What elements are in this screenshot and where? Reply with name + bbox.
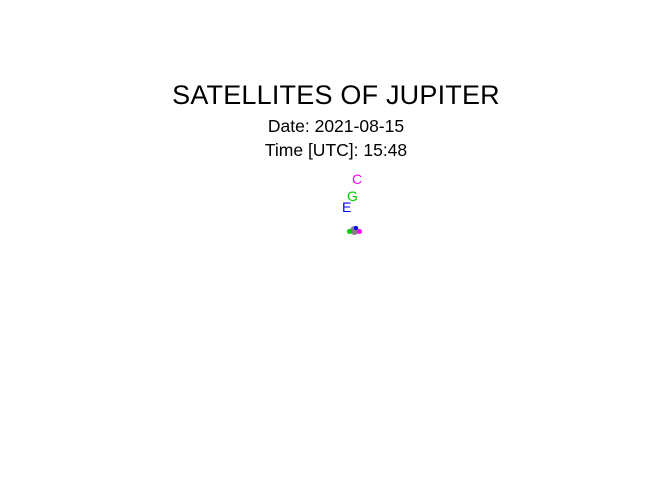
header-block: SATELLITES OF JUPITER Date: 2021-08-15 T… [0,82,672,159]
sky-canvas: SATELLITES OF JUPITER Date: 2021-08-15 T… [0,0,672,480]
moon-marker-ganymede [347,229,352,234]
observation-time: Time [UTC]: 15:48 [0,142,672,160]
moon-label-callisto: C [352,172,362,186]
moon-label-europa: E [342,200,351,214]
page-title: SATELLITES OF JUPITER [0,82,672,109]
observation-date: Date: 2021-08-15 [0,118,672,136]
moon-marker-callisto [357,229,362,234]
